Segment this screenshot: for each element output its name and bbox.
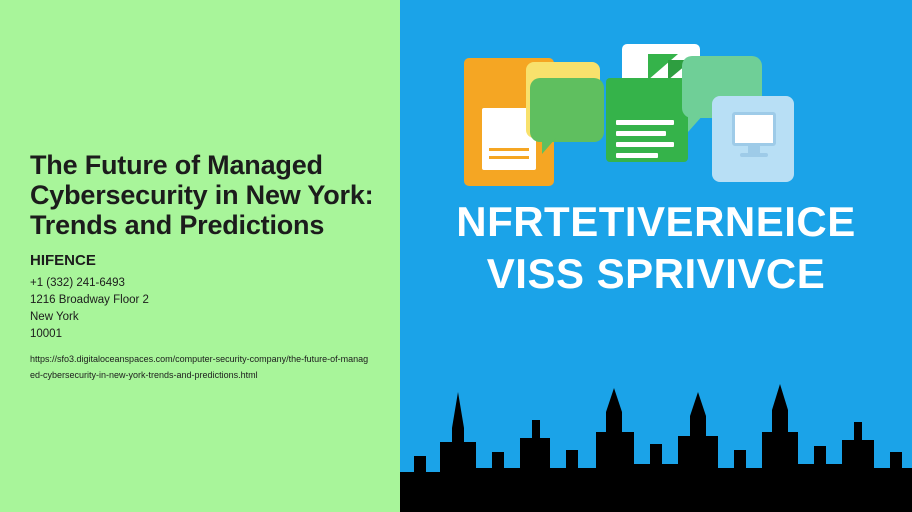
- text-block: The Future of Managed Cybersecurity in N…: [30, 150, 375, 383]
- city-skyline-icon: [400, 292, 912, 512]
- right-image-panel: NFRTETIVERNEICE VISS SPRIVIVCE: [400, 0, 912, 512]
- overlay-title-line-1: NFRTETIVERNEICE: [400, 196, 912, 248]
- company-phone: +1 (332) 241-6493: [30, 275, 375, 292]
- speech-bubble-tail-icon: [688, 114, 704, 132]
- monitor-screen-icon: [732, 112, 776, 146]
- chart-bar-icon: [616, 120, 674, 125]
- document-line-icon: [489, 156, 529, 159]
- monitor-base-icon: [740, 153, 768, 157]
- green-speech-bubble-icon: [530, 78, 604, 142]
- chart-bar-icon: [616, 142, 674, 147]
- chart-bar-icon: [616, 153, 658, 158]
- company-city: New York: [30, 309, 375, 326]
- company-address: 1216 Broadway Floor 2: [30, 292, 375, 309]
- company-zip: 10001: [30, 326, 375, 343]
- article-url[interactable]: https://sfo3.digitaloceanspaces.com/comp…: [30, 351, 372, 383]
- page-title: The Future of Managed Cybersecurity in N…: [30, 150, 375, 240]
- poster-page: The Future of Managed Cybersecurity in N…: [0, 0, 912, 512]
- company-name: HIFENCE: [30, 252, 375, 269]
- left-info-panel: The Future of Managed Cybersecurity in N…: [0, 0, 400, 512]
- document-line-icon: [489, 148, 529, 151]
- speech-bubble-tail-icon: [542, 138, 556, 154]
- overlay-title: NFRTETIVERNEICE VISS SPRIVIVCE: [400, 196, 912, 300]
- chart-bar-icon: [616, 131, 666, 136]
